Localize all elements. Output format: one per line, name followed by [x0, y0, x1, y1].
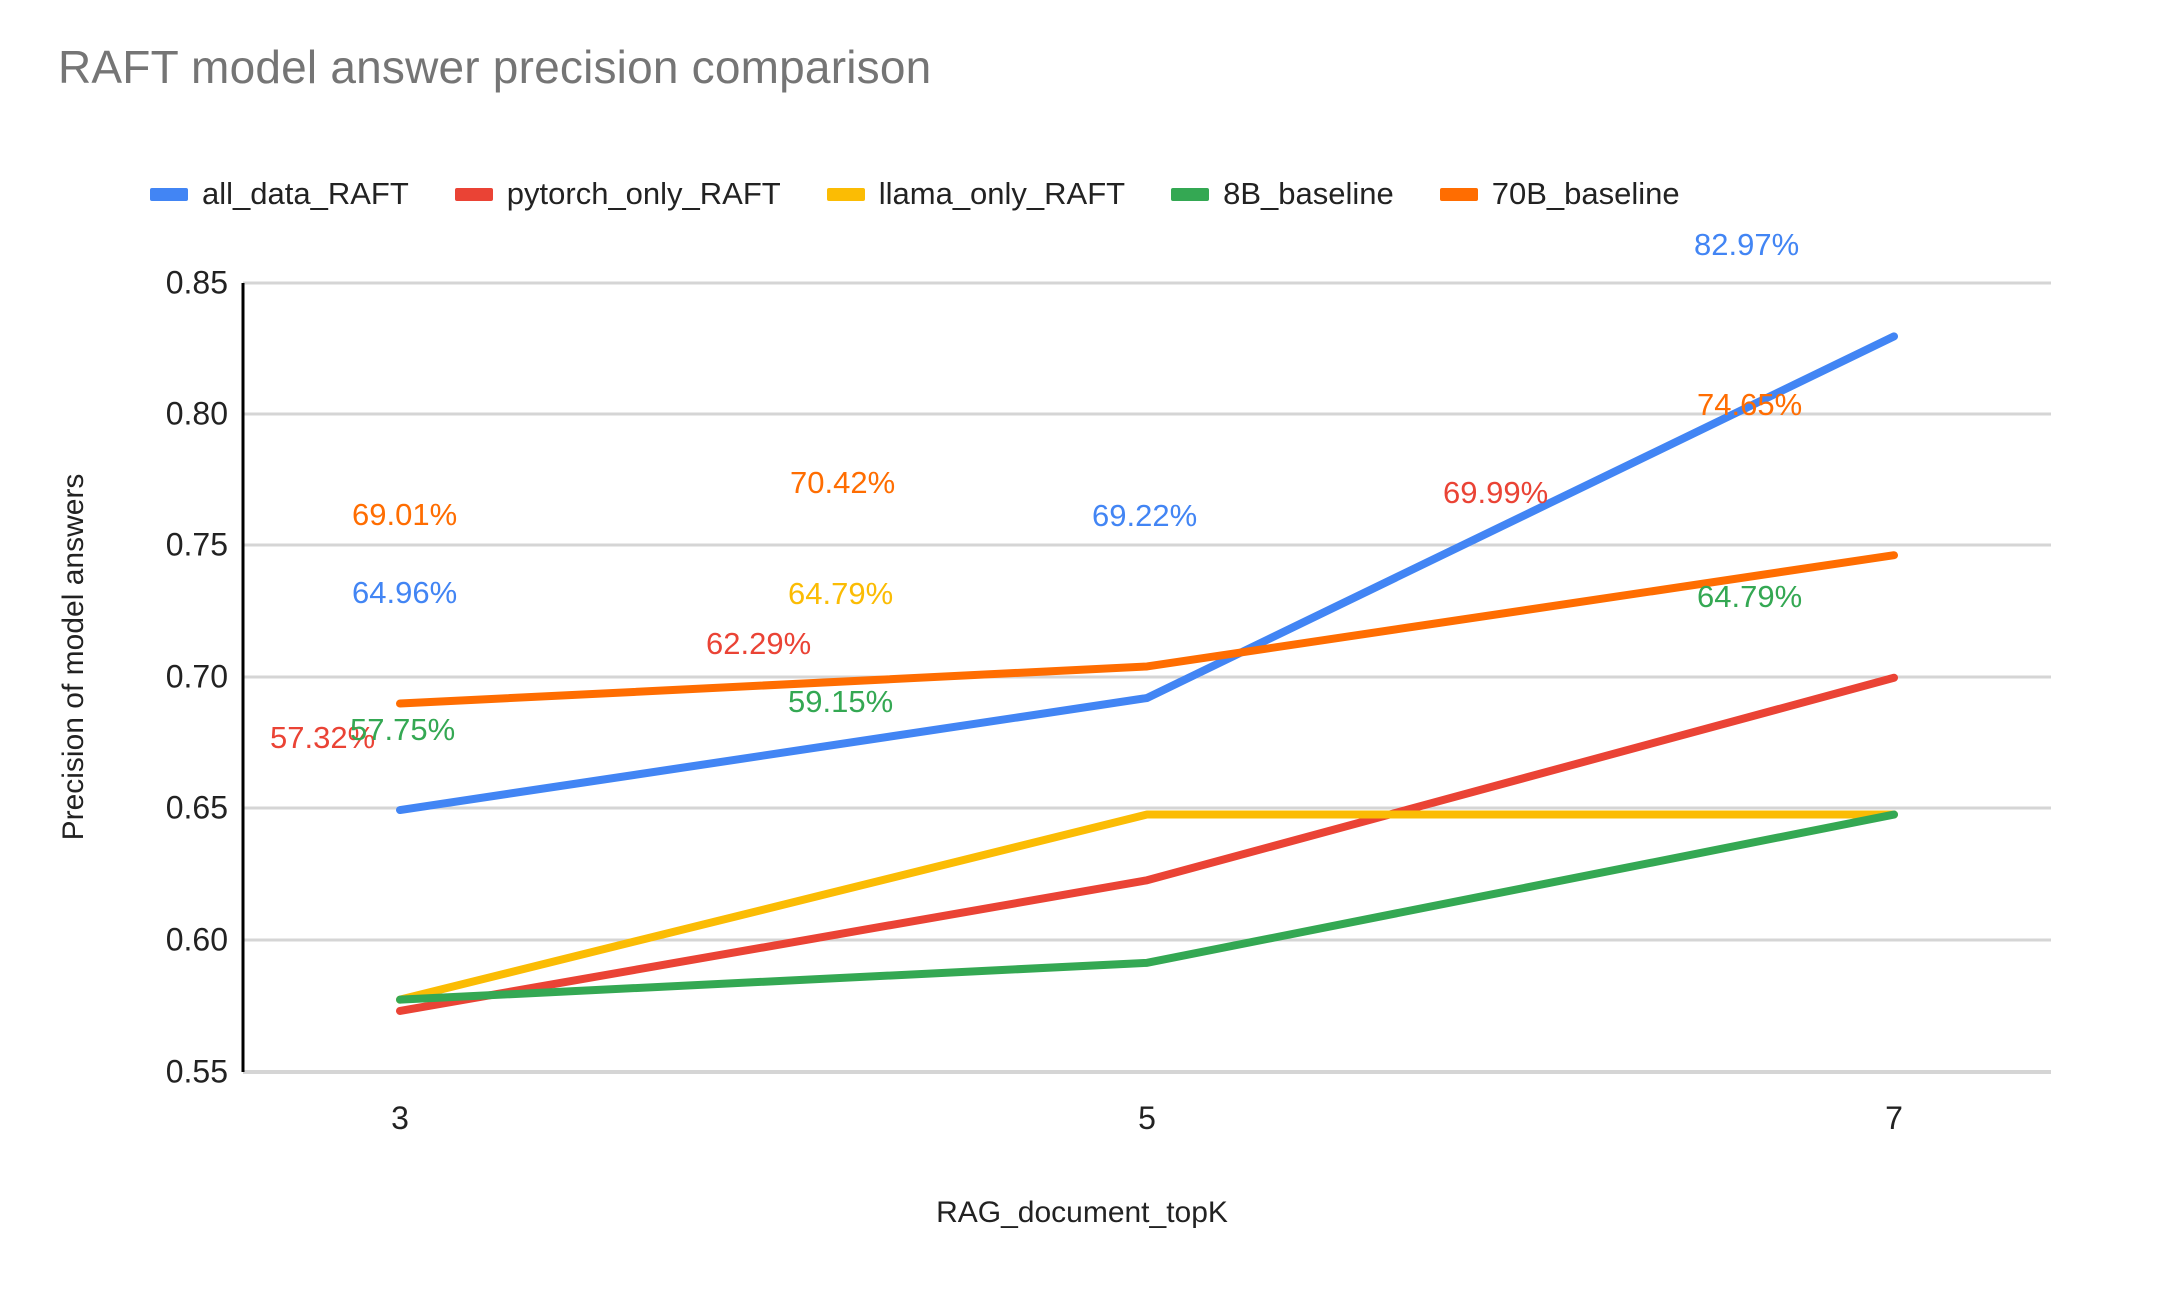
data-point-label: 74.65%: [1697, 387, 1802, 423]
y-tick-label: 0.70: [88, 659, 228, 696]
data-point-label: 69.22%: [1092, 498, 1197, 534]
x-axis-title: RAG_document_topK: [0, 1196, 2164, 1230]
y-axis-title: Precision of model answers: [57, 397, 91, 917]
series-lines: [400, 336, 1894, 1011]
x-tick-label: 3: [340, 1100, 460, 1137]
data-point-label: 62.29%: [706, 626, 811, 662]
data-point-label: 69.01%: [352, 497, 457, 533]
y-tick-label: 0.85: [88, 265, 228, 302]
series-line-70b-baseline: [400, 555, 1894, 703]
y-tick-label: 0.65: [88, 790, 228, 827]
x-tick-label: 5: [1087, 1100, 1207, 1137]
chart-container: RAFT model answer precision comparison a…: [0, 0, 2164, 1294]
data-point-label: 64.79%: [788, 576, 893, 612]
data-point-label: 82.97%: [1694, 227, 1799, 263]
data-point-label: 59.15%: [788, 684, 893, 720]
data-point-label: 64.96%: [352, 575, 457, 611]
data-point-label: 69.99%: [1443, 475, 1548, 511]
data-point-label: 64.79%: [1697, 579, 1802, 615]
y-tick-label: 0.60: [88, 922, 228, 959]
data-point-label: 70.42%: [790, 465, 895, 501]
x-tick-label: 7: [1834, 1100, 1954, 1137]
y-tick-label: 0.80: [88, 396, 228, 433]
y-tick-label: 0.55: [88, 1054, 228, 1091]
data-point-label: 57.75%: [350, 712, 455, 748]
y-tick-label: 0.75: [88, 527, 228, 564]
